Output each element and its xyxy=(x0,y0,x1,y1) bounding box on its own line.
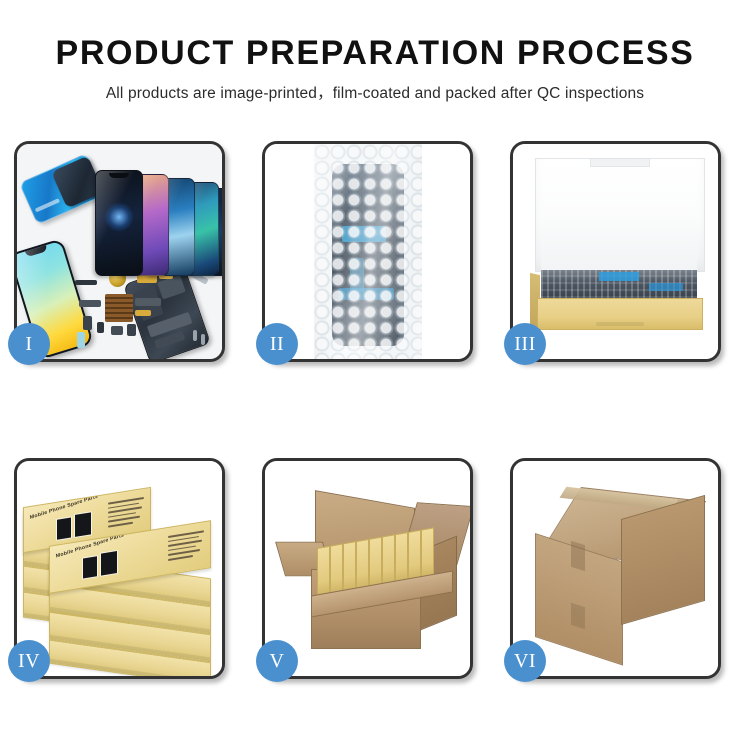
step-badge-1: I xyxy=(8,323,50,365)
inner-box-liner xyxy=(541,204,697,270)
step-image-inner-box xyxy=(513,144,718,359)
process-steps-grid: I II II xyxy=(14,141,736,679)
step-panel-3[interactable]: III xyxy=(510,141,721,362)
packed-products-row xyxy=(541,270,697,298)
carton-right-face xyxy=(621,495,705,625)
step-panel-2[interactable]: II xyxy=(262,141,473,362)
film-sheen xyxy=(314,144,422,359)
step-badge-6: VI xyxy=(504,640,546,682)
step-panel-5[interactable]: V xyxy=(262,458,473,679)
step-badge-2: II xyxy=(256,323,298,365)
box-stack: Mobile Phone Spare Parts Mobile Phone Sp… xyxy=(21,475,221,669)
product-preparation-infographic: PRODUCT PREPARATION PROCESS All products… xyxy=(0,0,750,750)
step-panel-4[interactable]: Mobile Phone Spare Parts Mobile Phone Sp… xyxy=(14,458,225,679)
step-badge-4: IV xyxy=(8,640,50,682)
step-image-sealed-carton xyxy=(513,461,718,676)
page-title: PRODUCT PREPARATION PROCESS xyxy=(0,0,750,72)
sealed-carton xyxy=(531,487,709,657)
open-carton xyxy=(281,489,463,659)
step-image-open-carton xyxy=(265,461,470,676)
spare-parts-group xyxy=(75,268,221,359)
step-badge-3: III xyxy=(504,323,546,365)
header: PRODUCT PREPARATION PROCESS All products… xyxy=(0,0,750,103)
step-panel-6[interactable]: VI xyxy=(510,458,721,679)
step-image-products xyxy=(17,144,222,359)
carton-seam-lower xyxy=(571,603,585,630)
step-badge-5: V xyxy=(256,640,298,682)
carton-seam-upper xyxy=(571,541,585,572)
phone-screens-fan xyxy=(89,158,221,276)
step-panel-1[interactable]: I xyxy=(14,141,225,362)
inner-box-base xyxy=(537,298,703,330)
step-image-bubble-wrap xyxy=(265,144,470,359)
step-image-box-stack: Mobile Phone Spare Parts Mobile Phone Sp… xyxy=(17,461,222,676)
page-subtitle: All products are image-printed，film-coat… xyxy=(0,72,750,103)
